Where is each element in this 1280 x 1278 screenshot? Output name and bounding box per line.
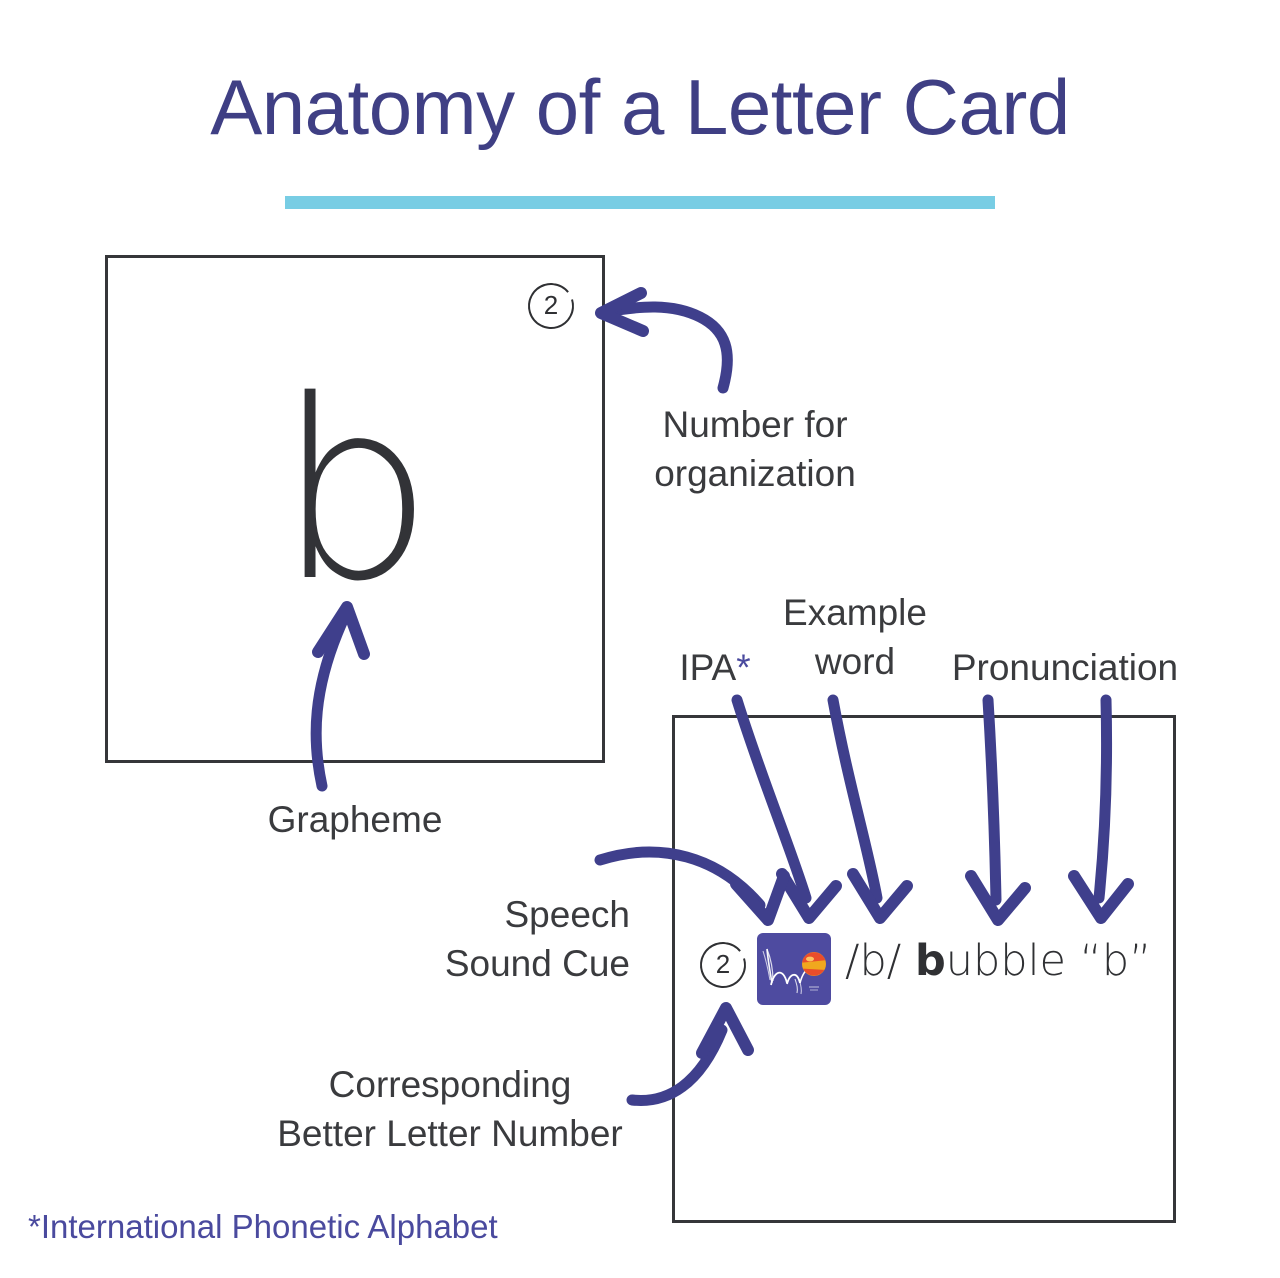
info-card-line: /b/ bubble “b” bbox=[845, 936, 1152, 986]
label-corresponding-better-letter-number: Corresponding Better Letter Number bbox=[250, 1060, 650, 1158]
label-pronunciation: Pronunciation bbox=[925, 643, 1205, 692]
footnote-international-phonetic-alphabet: *International Phonetic Alphabet bbox=[28, 1208, 498, 1246]
info-card-number-badge: 2 bbox=[700, 942, 746, 988]
info-card-number-text: 2 bbox=[716, 951, 730, 977]
grapheme-card-number-text: 2 bbox=[544, 292, 558, 318]
example-word-remainder: ubble bbox=[946, 936, 1066, 986]
label-speech-sound-cue: Speech Sound Cue bbox=[310, 890, 630, 988]
spacer bbox=[901, 936, 915, 986]
example-word-initial-letter: b bbox=[915, 936, 946, 986]
pronunciation-value: “b” bbox=[1080, 936, 1152, 986]
label-ipa: IPA* bbox=[645, 643, 785, 692]
ipa-value: /b/ bbox=[845, 936, 901, 986]
label-ipa-text: IPA bbox=[679, 647, 736, 688]
bouncing-ball-speech-sound-cue-icon bbox=[757, 933, 831, 1005]
label-ipa-footnote-star: * bbox=[736, 647, 750, 688]
label-number-for-organization: Number for organization bbox=[620, 400, 890, 498]
anatomy-of-a-letter-card-infographic: Anatomy of a Letter Card 2 b 2 bbox=[0, 0, 1280, 1278]
page-title: Anatomy of a Letter Card bbox=[0, 62, 1280, 153]
label-grapheme: Grapheme bbox=[205, 795, 505, 844]
spacer-2 bbox=[1066, 936, 1080, 986]
grapheme-card-number-badge: 2 bbox=[528, 283, 574, 329]
arrow-to-card1-number bbox=[601, 293, 727, 388]
label-example-word: Example word bbox=[760, 588, 950, 686]
title-underline-rule bbox=[285, 196, 995, 209]
grapheme-letter: b bbox=[105, 368, 605, 616]
